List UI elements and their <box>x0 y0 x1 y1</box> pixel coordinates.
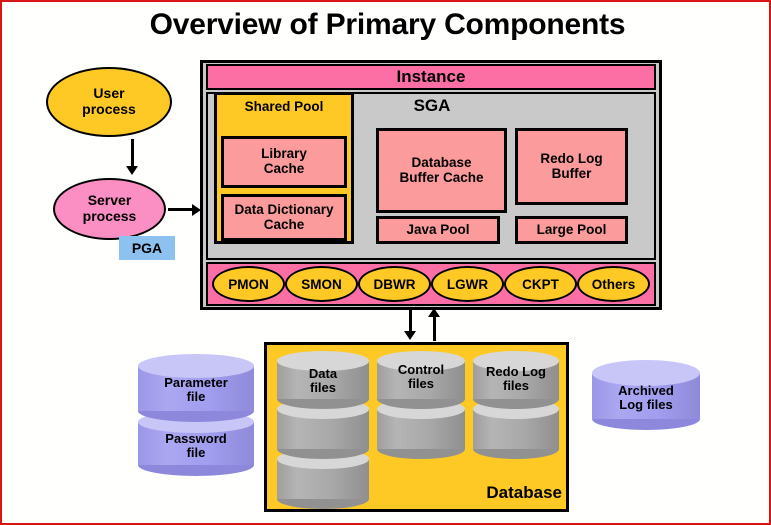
process-others: Others <box>577 266 650 302</box>
password-file-line2: file <box>187 445 206 460</box>
archived-log-files-cylinder: Archived Log files <box>592 360 700 440</box>
parameter-password-cylinder-stack: Parameter file Password file <box>138 354 254 479</box>
redo-log-buffer-line2: Buffer <box>552 166 592 181</box>
redo-log-buffer-line1: Redo Log <box>540 151 602 166</box>
data-files-line2: files <box>310 380 336 395</box>
data-dictionary-cache-line2: Cache <box>264 217 305 232</box>
archived-log-files-line2: Log files <box>619 397 672 412</box>
redo-log-files-line2: files <box>503 378 529 393</box>
redo-log-buffer-box: Redo Log Buffer <box>515 128 628 205</box>
library-cache-line2: Cache <box>264 161 305 176</box>
diagram-canvas: Overview of Primary Components User proc… <box>0 0 771 525</box>
process-pmon: PMON <box>212 266 285 302</box>
background-process-strip: PMON SMON DBWR LGWR CKPT Others <box>206 262 656 306</box>
data-files-cylinder-stack: Data files <box>277 351 369 503</box>
server-to-instance-arrow-line <box>168 208 194 211</box>
instance-title: Instance <box>206 64 656 90</box>
parameter-file-label: Parameter file <box>138 376 254 403</box>
database-to-instance-arrow-head <box>428 308 440 317</box>
process-lgwr: LGWR <box>431 266 504 302</box>
password-file-label: Password file <box>138 432 254 459</box>
process-ckpt: CKPT <box>504 266 577 302</box>
control-files-line2: files <box>408 376 434 391</box>
control-files-cylinder-stack: Control files <box>377 351 465 461</box>
user-to-server-arrow-head <box>126 166 138 175</box>
library-cache-box: Library Cache <box>221 136 347 188</box>
server-process-label-line2: process <box>83 208 137 224</box>
pga-box: PGA <box>119 236 175 260</box>
user-to-server-arrow-line <box>131 139 134 167</box>
database-to-instance-arrow-line <box>433 315 436 341</box>
user-process-label-line2: process <box>82 101 136 117</box>
large-pool-box: Large Pool <box>515 216 628 244</box>
data-files-label: Data files <box>277 367 369 394</box>
instance-to-database-arrow-head <box>404 331 416 340</box>
server-process-label-line1: Server <box>88 192 132 208</box>
database-buffer-cache-line2: Buffer Cache <box>399 170 483 185</box>
java-pool-box: Java Pool <box>376 216 500 244</box>
parameter-file-line2: file <box>187 389 206 404</box>
redo-log-files-label: Redo Log files <box>473 365 559 392</box>
database-buffer-cache-line1: Database <box>411 155 471 170</box>
java-pool-label: Java Pool <box>406 223 469 238</box>
archived-log-files-label: Archived Log files <box>592 384 700 411</box>
process-dbwr: DBWR <box>358 266 431 302</box>
control-files-label: Control files <box>377 363 465 390</box>
database-buffer-cache-box: Database Buffer Cache <box>376 128 507 213</box>
sga-label: SGA <box>372 94 492 118</box>
shared-pool-label: Shared Pool <box>214 95 354 117</box>
redo-log-files-cylinder-stack: Redo Log files <box>473 351 559 461</box>
data-dictionary-cache-line1: Data Dictionary <box>234 202 333 217</box>
process-smon: SMON <box>285 266 358 302</box>
server-process-node: Server process <box>53 178 166 240</box>
library-cache-line1: Library <box>261 146 307 161</box>
database-label: Database <box>457 480 562 506</box>
data-dictionary-cache-box: Data Dictionary Cache <box>221 194 347 241</box>
large-pool-label: Large Pool <box>537 223 607 238</box>
user-process-label-line1: User <box>93 85 124 101</box>
page-title: Overview of Primary Components <box>2 8 771 42</box>
user-process-node: User process <box>46 67 172 137</box>
